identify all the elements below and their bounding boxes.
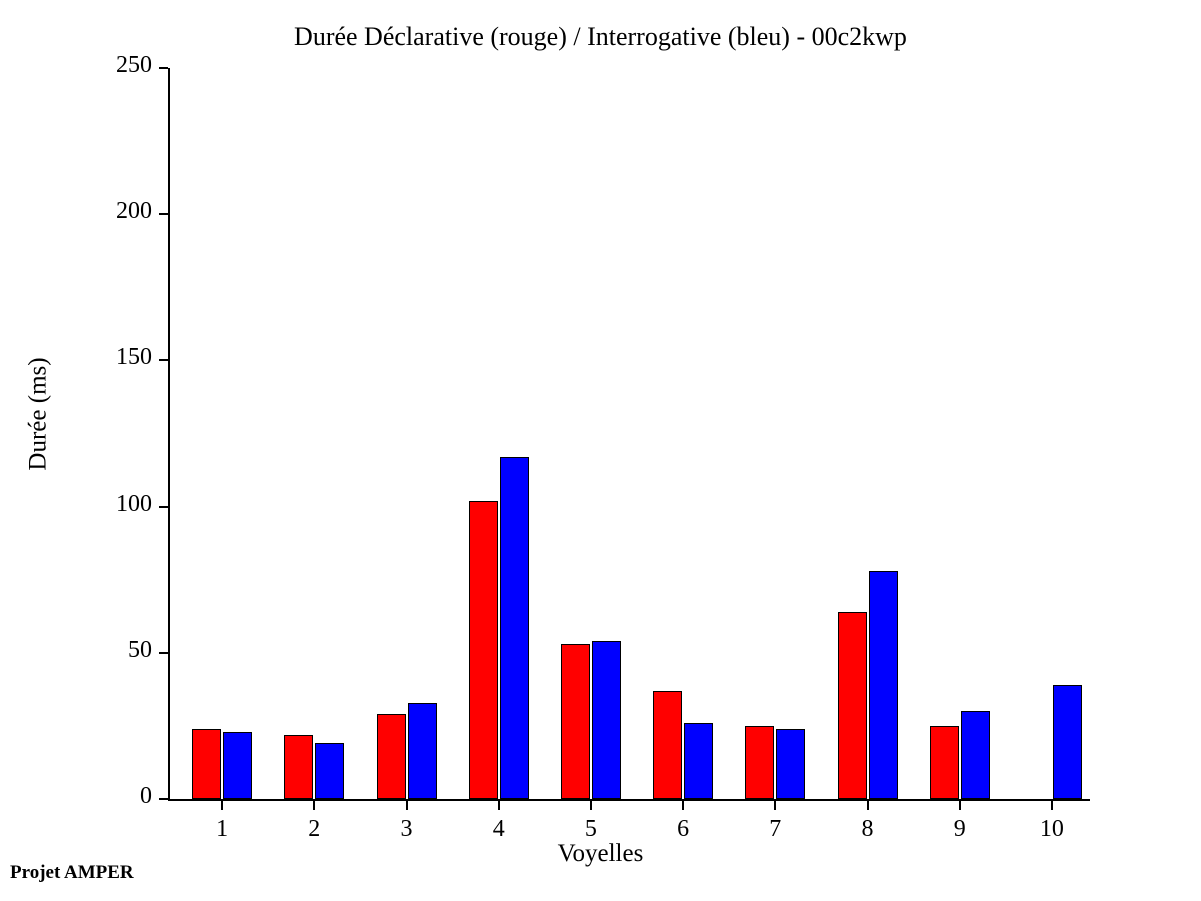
bar-déclarative-4 bbox=[469, 501, 498, 799]
bar-interrogative-1 bbox=[223, 732, 252, 799]
x-tick-label: 5 bbox=[561, 816, 621, 843]
bar-interrogative-6 bbox=[684, 723, 713, 799]
bar-interrogative-8 bbox=[869, 571, 898, 799]
bar-déclarative-7 bbox=[745, 726, 774, 799]
chart-figure: Durée Déclarative (rouge) / Interrogativ… bbox=[0, 0, 1201, 901]
x-tick-mark bbox=[590, 801, 592, 810]
chart-title: Durée Déclarative (rouge) / Interrogativ… bbox=[0, 22, 1201, 52]
x-tick-mark bbox=[221, 801, 223, 810]
y-tick-mark bbox=[159, 67, 168, 69]
bar-déclarative-3 bbox=[377, 714, 406, 799]
x-tick-label: 9 bbox=[930, 816, 990, 843]
bar-déclarative-8 bbox=[838, 612, 867, 799]
bar-interrogative-5 bbox=[592, 641, 621, 799]
y-tick-label: 200 bbox=[48, 198, 152, 225]
x-tick-mark bbox=[959, 801, 961, 810]
y-tick-label: 50 bbox=[48, 637, 152, 664]
x-tick-label: 1 bbox=[192, 816, 252, 843]
plot-area: 050100150200250 12345678910 bbox=[168, 68, 1090, 800]
y-tick-mark bbox=[159, 359, 168, 361]
bar-interrogative-4 bbox=[500, 457, 529, 799]
bar-interrogative-10 bbox=[1053, 685, 1082, 799]
x-tick-label: 2 bbox=[284, 816, 344, 843]
bar-déclarative-9 bbox=[930, 726, 959, 799]
x-tick-label: 8 bbox=[838, 816, 898, 843]
x-tick-mark bbox=[313, 801, 315, 810]
y-tick-mark bbox=[159, 652, 168, 654]
bar-déclarative-2 bbox=[284, 735, 313, 799]
x-tick-mark bbox=[774, 801, 776, 810]
x-tick-mark bbox=[498, 801, 500, 810]
x-tick-label: 6 bbox=[653, 816, 713, 843]
x-tick-mark bbox=[1051, 801, 1053, 810]
y-tick-mark bbox=[159, 506, 168, 508]
y-tick-mark bbox=[159, 798, 168, 800]
bar-déclarative-5 bbox=[561, 644, 590, 799]
bar-interrogative-9 bbox=[961, 711, 990, 799]
x-tick-mark bbox=[867, 801, 869, 810]
bars-layer bbox=[168, 68, 1090, 799]
bar-interrogative-7 bbox=[776, 729, 805, 799]
y-tick-label: 0 bbox=[48, 783, 152, 810]
bar-interrogative-2 bbox=[315, 743, 344, 799]
x-tick-label: 7 bbox=[745, 816, 805, 843]
bar-déclarative-6 bbox=[653, 691, 682, 799]
y-tick-mark bbox=[159, 213, 168, 215]
y-tick-label: 100 bbox=[48, 491, 152, 518]
x-tick-mark bbox=[406, 801, 408, 810]
bar-déclarative-1 bbox=[192, 729, 221, 799]
y-tick-label: 150 bbox=[48, 344, 152, 371]
y-tick-label: 250 bbox=[48, 52, 152, 79]
footer-note: Projet AMPER bbox=[10, 862, 134, 884]
y-axis-label: Durée (ms) bbox=[25, 357, 53, 470]
x-tick-label: 10 bbox=[1022, 816, 1082, 843]
x-tick-label: 3 bbox=[377, 816, 437, 843]
x-tick-mark bbox=[682, 801, 684, 810]
x-axis-label: Voyelles bbox=[0, 840, 1201, 868]
bar-interrogative-3 bbox=[408, 703, 437, 799]
x-tick-label: 4 bbox=[469, 816, 529, 843]
x-axis-line bbox=[168, 799, 1090, 801]
